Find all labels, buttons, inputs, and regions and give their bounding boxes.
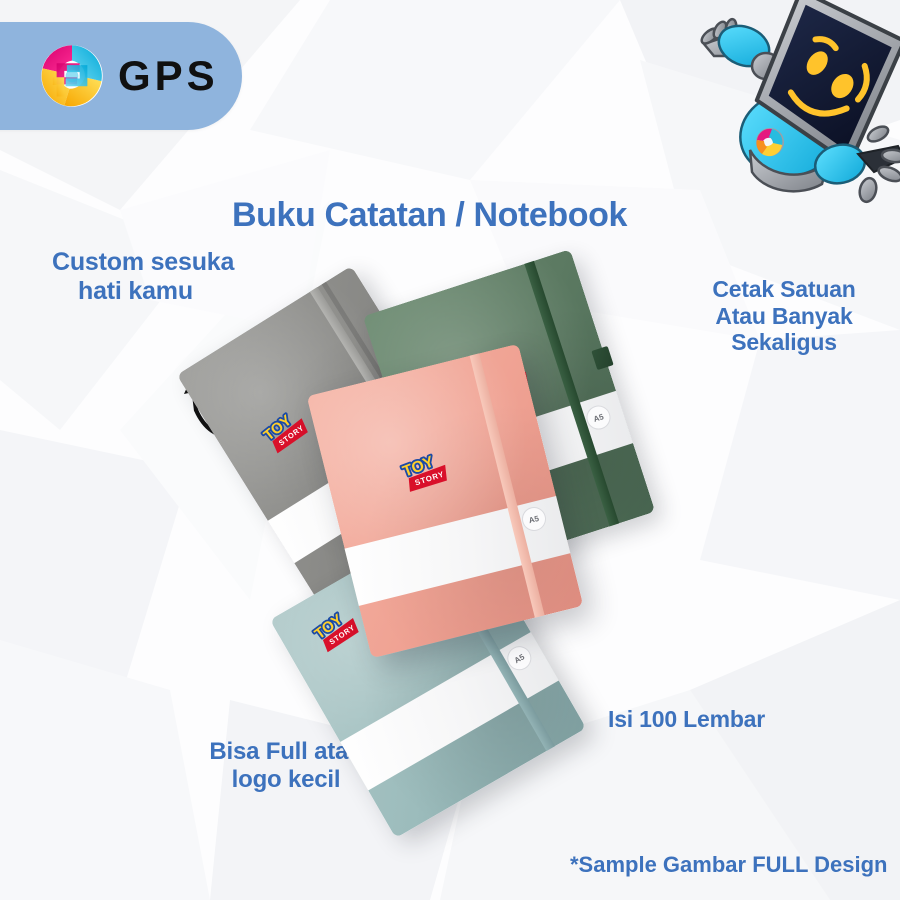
product-photo-group: TOY TOY STORY A5 TOY TOY: [0, 0, 900, 900]
advertisement-canvas: GPS: [0, 0, 900, 900]
